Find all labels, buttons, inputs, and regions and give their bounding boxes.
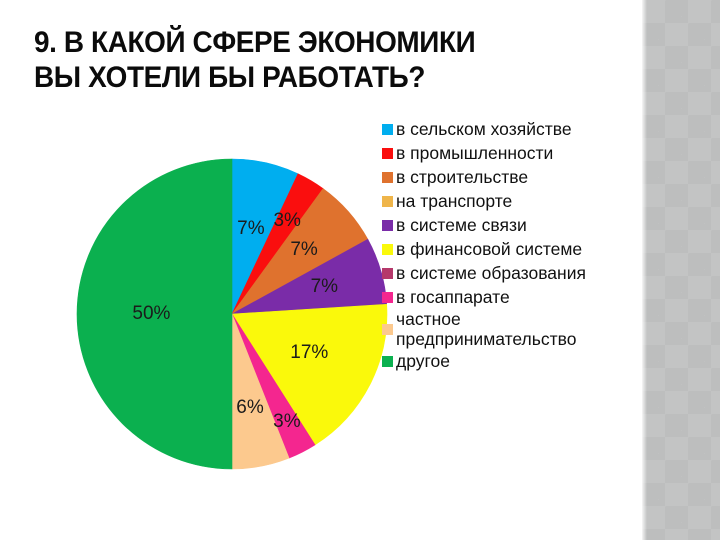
legend-item[interactable]: на транспорте — [382, 190, 632, 213]
legend-item-label: в системе связи — [396, 216, 527, 236]
legend-color-swatch-icon — [382, 220, 393, 231]
pie-chart: 7%3%7%7%17%3%6%50% в сельском хозяйствев… — [32, 118, 632, 528]
slide-canvas: 9. В КАКОЙ СФЕРЕ ЭКОНОМИКИ ВЫ ХОТЕЛИ БЫ … — [0, 0, 720, 540]
legend-color-swatch-icon — [382, 268, 393, 279]
slide-title: 9. В КАКОЙ СФЕРЕ ЭКОНОМИКИ ВЫ ХОТЕЛИ БЫ … — [34, 26, 573, 96]
legend-item[interactable]: в сельском хозяйстве — [382, 118, 632, 141]
chart-legend: в сельском хозяйствев промышленностив ст… — [382, 118, 632, 374]
legend-color-swatch-icon — [382, 196, 393, 207]
legend-item-label: в госаппарате — [396, 288, 510, 308]
legend-item[interactable]: в строительстве — [382, 166, 632, 189]
legend-item-label: в сельском хозяйстве — [396, 120, 572, 140]
pie-slice[interactable] — [77, 159, 232, 469]
legend-item-label: на транспорте — [396, 192, 512, 212]
legend-item[interactable]: в госаппарате — [382, 286, 632, 309]
legend-color-swatch-icon — [382, 148, 393, 159]
legend-item[interactable]: частное предпринимательство — [382, 310, 632, 349]
legend-color-swatch-icon — [382, 356, 393, 367]
legend-item-label: в финансовой системе — [396, 240, 582, 260]
legend-item-label: в промышленности — [396, 144, 553, 164]
legend-item-label: другое — [396, 352, 450, 372]
legend-item[interactable]: в промышленности — [382, 142, 632, 165]
pie-slices — [77, 159, 387, 469]
legend-color-swatch-icon — [382, 244, 393, 255]
legend-color-swatch-icon — [382, 324, 393, 335]
decorative-side-pattern — [642, 0, 720, 540]
legend-item[interactable]: в системе связи — [382, 214, 632, 237]
legend-item[interactable]: в системе образования — [382, 262, 632, 285]
legend-item[interactable]: в финансовой системе — [382, 238, 632, 261]
legend-item[interactable]: другое — [382, 350, 632, 373]
pie-svg — [76, 158, 388, 470]
pie-graphic: 7%3%7%7%17%3%6%50% — [76, 158, 388, 470]
legend-item-label: частное предпринимательство — [396, 310, 576, 349]
legend-color-swatch-icon — [382, 292, 393, 303]
legend-color-swatch-icon — [382, 172, 393, 183]
legend-item-label: в системе образования — [396, 264, 586, 284]
legend-color-swatch-icon — [382, 124, 393, 135]
legend-item-label: в строительстве — [396, 168, 528, 188]
